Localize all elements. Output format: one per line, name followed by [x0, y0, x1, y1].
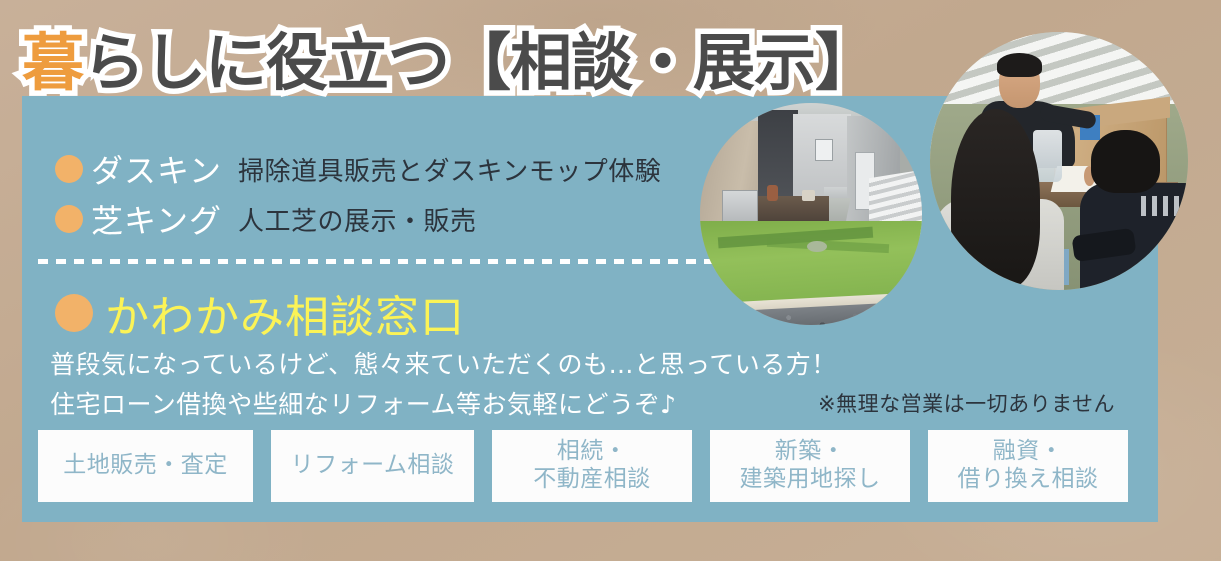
consultation-photo-artwork — [930, 32, 1188, 290]
consultation-body-line-2: 住宅ローン借換や些細なリフォーム等お気軽にどうぞ♪ — [50, 385, 676, 421]
customer-person-front — [935, 109, 1069, 290]
service-chip-renovation-consult[interactable]: リフォーム相談 — [271, 430, 474, 502]
exhibit-name: ダスキン — [91, 146, 222, 192]
exhibit-description: 人工芝の展示・販売 — [238, 201, 477, 238]
chip-line-2: 建築用地探し — [740, 466, 881, 494]
customer-right-hair — [1091, 130, 1160, 193]
exhibit-description: 掃除道具販売とダスキンモップ体験 — [238, 151, 661, 188]
service-chip-land-sale-appraisal[interactable]: 土地販売・査定 — [38, 430, 253, 502]
chip-line-2: 不動産相談 — [533, 466, 651, 494]
promotional-banner: 暮らしに役立つ【相談・展示】 ダスキン 掃除道具販売とダスキンモップ体験 芝キン… — [0, 0, 1221, 561]
service-chip-row: 土地販売・査定 リフォーム相談 相続・ 不動産相談 新築・ 建築用地探し 融資・… — [38, 430, 1128, 502]
drain-cover — [807, 241, 827, 252]
page-title: 暮らしに役立つ【相談・展示】 — [22, 32, 876, 94]
bullet-dot-icon — [55, 205, 83, 233]
deck-object — [802, 190, 815, 201]
chip-line-2: 借り換え相談 — [958, 466, 1099, 494]
customer-consultation-photo — [930, 32, 1188, 290]
artificial-turf-installation-photo — [700, 103, 922, 325]
consultation-heading: かわかみ相談窓口 — [55, 281, 465, 345]
service-chip-newbuild-landsearch[interactable]: 新築・ 建築用地探し — [710, 430, 910, 502]
list-item: 芝キング 人工芝の展示・販売 — [55, 194, 661, 244]
shirt-logo — [1141, 196, 1188, 216]
planter-pot — [767, 185, 778, 201]
bullet-dot-icon — [55, 294, 93, 332]
page-title-rest: らしに役立つ【相談・展示】 — [83, 26, 876, 99]
page-title-lead-character: 暮 — [22, 26, 83, 99]
chip-line-1: リフォーム相談 — [291, 452, 455, 480]
service-chip-inheritance-realestate[interactable]: 相続・ 不動産相談 — [492, 430, 692, 502]
consultation-body-line-1: 普段気になっているけど、態々来ていただくのも…と思っている方！ — [50, 345, 837, 381]
turf-photo-artwork — [700, 103, 922, 325]
chip-line-1: 融資・ — [993, 438, 1064, 466]
bullet-dot-icon — [55, 155, 83, 183]
consultation-note: ※無理な営業は一切ありません — [818, 388, 1115, 418]
chip-line-1: 土地販売・査定 — [63, 452, 228, 480]
staff-hair — [997, 53, 1042, 77]
chip-line-1: 新築・ — [775, 438, 846, 466]
house-window — [815, 139, 833, 161]
customer-person-right — [1080, 130, 1188, 290]
service-chip-loan-refinance[interactable]: 融資・ 借り換え相談 — [928, 430, 1128, 502]
list-item: ダスキン 掃除道具販売とダスキンモップ体験 — [55, 144, 661, 194]
dashed-divider — [38, 259, 732, 264]
chip-line-1: 相続・ — [557, 438, 628, 466]
exhibit-name: 芝キング — [91, 196, 222, 242]
exhibit-list: ダスキン 掃除道具販売とダスキンモップ体験 芝キング 人工芝の展示・販売 — [55, 144, 661, 244]
consultation-title: かわかみ相談窓口 — [105, 281, 465, 345]
customer-front-hair — [951, 109, 1040, 287]
